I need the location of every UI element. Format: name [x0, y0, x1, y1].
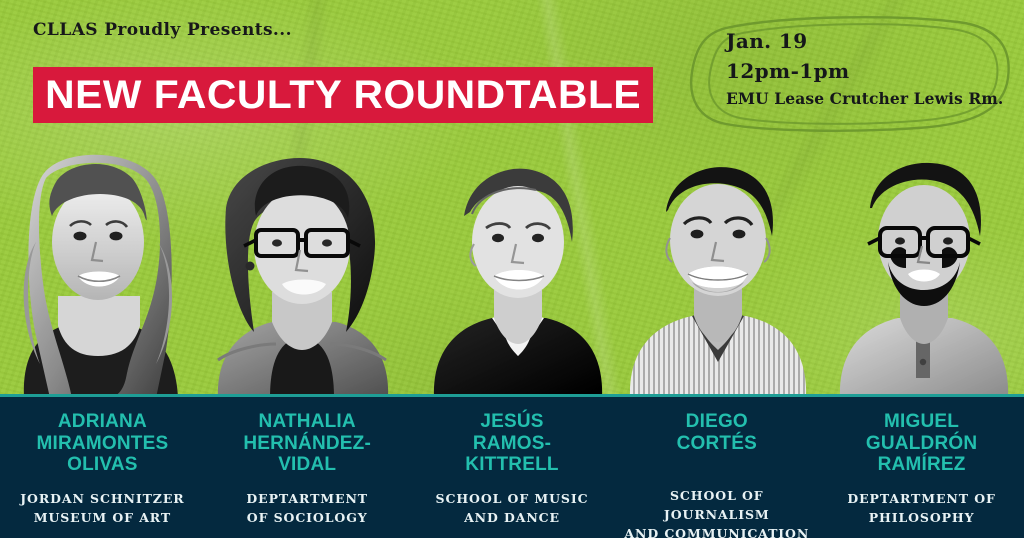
panelist-dept-line: SCHOOL OF JOURNALISM	[620, 487, 813, 525]
panelist-dept-line: PHILOSOPHY	[825, 509, 1018, 528]
portrait-panelist-2	[196, 150, 408, 398]
panelist-name-line: GUALDRÓN	[825, 433, 1018, 455]
event-time: 12pm-1pm	[726, 59, 1003, 83]
portrait-panelist-5	[830, 150, 1018, 398]
kicker-text: CLLAS Proudly Presents...	[33, 20, 292, 40]
panelist-name-line: ADRIANA	[6, 411, 199, 433]
portrait-panelist-3	[420, 150, 616, 398]
event-location: EMU Lease Crutcher Lewis Rm.	[726, 89, 1003, 108]
panelist-name-line: HERNÁNDEZ-	[211, 433, 404, 455]
panelist-name-5: MIGUEL GUALDRÓN RAMÍREZ	[825, 411, 1018, 476]
poster-title: NEW FACULTY ROUNDTABLE	[45, 75, 641, 115]
panelist-cell-2: NATHALIA HERNÁNDEZ- VIDAL DEPTARTMENT OF…	[205, 397, 410, 538]
panelist-dept-1: JORDAN SCHNITZER MUSEUM OF ART	[6, 490, 199, 528]
panelist-dept-line: AND DANCE	[416, 509, 609, 528]
panelist-name-line: MIGUEL	[825, 411, 1018, 433]
panelist-name-4: DIEGO CORTÉS	[620, 411, 813, 454]
panelist-name-line: VIDAL	[211, 454, 404, 476]
portrait-panelist-4	[618, 150, 818, 398]
panelist-name-2: NATHALIA HERNÁNDEZ- VIDAL	[211, 411, 404, 476]
panelist-dept-5: DEPTARTMENT OF PHILOSOPHY	[825, 490, 1018, 528]
event-date: Jan. 19	[726, 29, 1003, 53]
panelist-dept-line: OF SOCIOLOGY	[211, 509, 404, 528]
portrait-panelist-1	[6, 150, 196, 398]
panelist-name-line: KITTRELL	[416, 454, 609, 476]
event-details-text: Jan. 19 12pm-1pm EMU Lease Crutcher Lewi…	[726, 29, 1003, 108]
panelist-dept-line: MUSEUM OF ART	[6, 509, 199, 528]
panelist-dept-line: SCHOOL OF MUSIC	[416, 490, 609, 509]
panelist-cell-5: MIGUEL GUALDRÓN RAMÍREZ DEPTARTMENT OF P…	[819, 397, 1024, 538]
panelist-cell-1: ADRIANA MIRAMONTES OLIVAS JORDAN SCHNITZ…	[0, 397, 205, 538]
panelist-name-band: ADRIANA MIRAMONTES OLIVAS JORDAN SCHNITZ…	[0, 394, 1024, 538]
panelist-dept-line: DEPTARTMENT	[211, 490, 404, 509]
panelist-name-line: DIEGO	[620, 411, 813, 433]
panelist-portrait-strip	[0, 150, 1024, 398]
panelist-dept-4: SCHOOL OF JOURNALISM AND COMMUNICATION	[620, 487, 813, 538]
event-details-block: Jan. 19 12pm-1pm EMU Lease Crutcher Lewi…	[700, 20, 1010, 128]
panelist-dept-line: DEPTARTMENT OF	[825, 490, 1018, 509]
panelist-name-line: CORTÉS	[620, 433, 813, 455]
panelist-name-line: JESÚS	[416, 411, 609, 433]
panelist-dept-3: SCHOOL OF MUSIC AND DANCE	[416, 490, 609, 528]
panelist-dept-line: JORDAN SCHNITZER	[6, 490, 199, 509]
panelist-name-line: RAMOS-	[416, 433, 609, 455]
panelist-name-line: MIRAMONTES	[6, 433, 199, 455]
panelist-dept-line: AND COMMUNICATION	[620, 525, 813, 538]
panelist-name-line: NATHALIA	[211, 411, 404, 433]
panelist-name-line: RAMÍREZ	[825, 454, 1018, 476]
panelist-name-1: ADRIANA MIRAMONTES OLIVAS	[6, 411, 199, 476]
title-banner: NEW FACULTY ROUNDTABLE	[33, 67, 653, 123]
panelist-cell-3: JESÚS RAMOS- KITTRELL SCHOOL OF MUSIC AN…	[410, 397, 615, 538]
panelist-name-3: JESÚS RAMOS- KITTRELL	[416, 411, 609, 476]
panelist-dept-2: DEPTARTMENT OF SOCIOLOGY	[211, 490, 404, 528]
event-poster: CLLAS Proudly Presents... NEW FACULTY RO…	[0, 0, 1024, 538]
panelist-cell-4: DIEGO CORTÉS SCHOOL OF JOURNALISM AND CO…	[614, 397, 819, 538]
panelist-name-line: OLIVAS	[6, 454, 199, 476]
